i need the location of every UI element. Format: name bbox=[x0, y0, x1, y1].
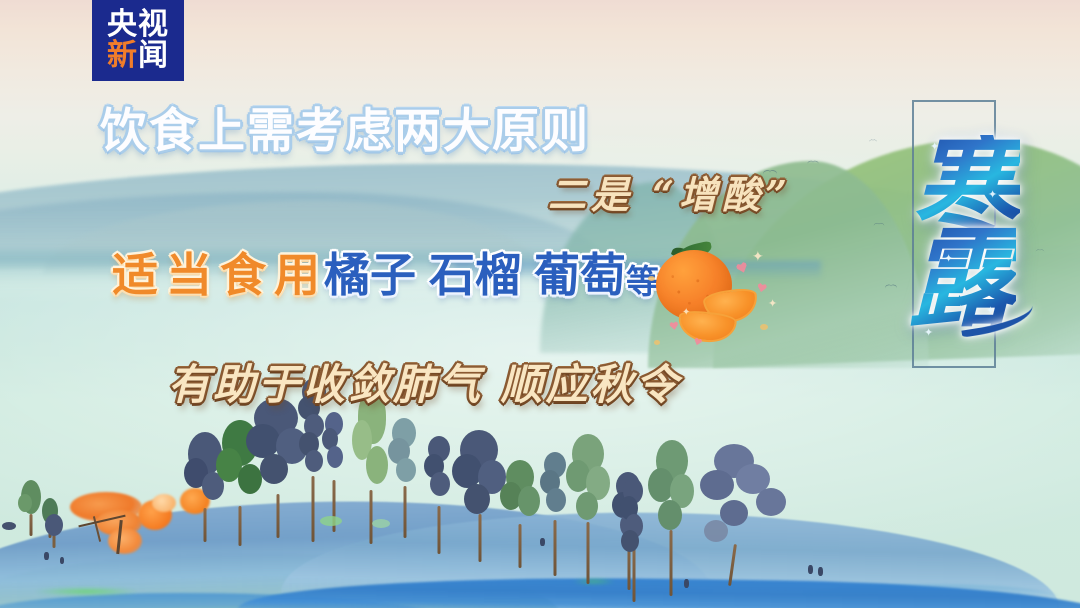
logo-glyph: 闻 bbox=[138, 41, 169, 71]
sparkle-icon: ✦ bbox=[988, 188, 997, 201]
heart-icon bbox=[669, 320, 680, 330]
benefit-caption: 有助于收敛肺气 顺应秋令 bbox=[168, 364, 681, 406]
tree bbox=[648, 440, 694, 596]
solar-term-seal: 寒 露 ✦ ✦ ✦ ✦ ✦ bbox=[900, 96, 1032, 372]
sparkle-icon: ✦ bbox=[930, 140, 939, 153]
figure bbox=[60, 557, 64, 564]
tree bbox=[620, 478, 648, 602]
sparkle-icon: ✦ bbox=[986, 304, 995, 317]
tree bbox=[322, 412, 346, 532]
crumb bbox=[654, 340, 660, 345]
logo-glyph: 视 bbox=[138, 10, 169, 40]
advice-food-item: 石榴 bbox=[429, 252, 521, 298]
figure bbox=[818, 567, 823, 576]
advice-food-item: 橘子 bbox=[324, 252, 416, 298]
tree bbox=[424, 436, 454, 554]
tree bbox=[566, 434, 610, 584]
sparkle-icon: ✦ bbox=[924, 326, 933, 339]
logo-line-1: 央 视 bbox=[107, 10, 169, 40]
tree bbox=[43, 514, 65, 548]
sparkle-icon: ✦ bbox=[944, 252, 953, 265]
crumb bbox=[648, 276, 655, 281]
shrub bbox=[372, 519, 390, 528]
figure bbox=[540, 538, 545, 546]
tree bbox=[388, 418, 422, 538]
sparkle-icon: ✦ bbox=[682, 308, 690, 318]
advice-emphasis-char: 当 bbox=[162, 252, 216, 298]
tree bbox=[500, 460, 540, 568]
heart-icon bbox=[734, 260, 749, 274]
principle-caption: 二是 “增酸” bbox=[548, 176, 792, 214]
tangerine-illustration: ✦ ✦ ✦ bbox=[648, 236, 778, 348]
solar-term-poster: 央 视 新 闻 饮食上需考虑两大原则 二是 “增酸” 适 当 食 用 橘子 石榴… bbox=[0, 0, 1080, 608]
figure bbox=[808, 565, 813, 574]
advice-caption: 适 当 食 用 橘子 石榴 葡萄 等 bbox=[108, 252, 659, 298]
shrub bbox=[2, 522, 16, 530]
tree bbox=[700, 444, 792, 586]
advice-emphasis-char: 用 bbox=[270, 252, 324, 298]
figure bbox=[44, 552, 49, 560]
logo-glyph: 央 bbox=[107, 10, 138, 40]
crumb bbox=[760, 324, 768, 330]
logo-line-2: 新 闻 bbox=[107, 41, 169, 71]
headline-caption: 饮食上需考虑两大原则 bbox=[100, 108, 590, 155]
advice-emphasis-char: 食 bbox=[216, 252, 270, 298]
heart-icon bbox=[756, 282, 768, 293]
sparkle-icon: ✦ bbox=[752, 250, 764, 264]
advice-food-item: 葡萄 bbox=[534, 252, 626, 298]
logo-glyph-accent: 新 bbox=[107, 41, 138, 71]
sparkle-icon: ✦ bbox=[768, 298, 777, 309]
figure bbox=[684, 579, 689, 588]
advice-emphasis: 适 当 食 用 bbox=[108, 252, 324, 298]
cctv-news-logo[interactable]: 央 视 新 闻 bbox=[92, 0, 184, 81]
shrub bbox=[320, 516, 342, 526]
advice-emphasis-char: 适 bbox=[108, 252, 162, 298]
